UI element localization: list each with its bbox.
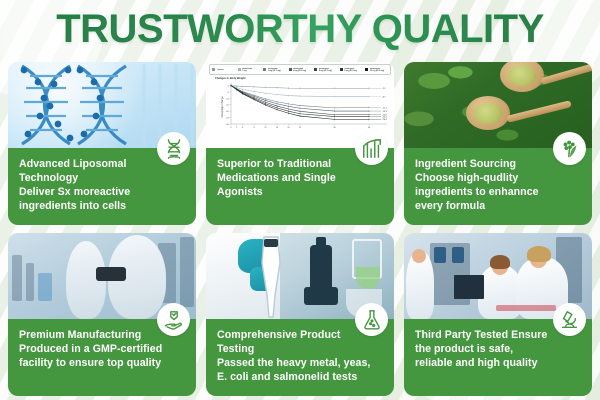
chart-legend-label: Retatrutide 4 mg (ID 2 mg) <box>268 68 281 72</box>
card-line: ingredients to enhannce <box>415 185 581 199</box>
svg-text:-20: -20 <box>226 111 230 113</box>
infographic-page: TRUSTWORTHY QUALITY <box>0 0 600 400</box>
chart-legend-item: Retatrutide 4 mg (ID 4 mg) <box>289 68 312 72</box>
svg-text:-26.4: -26.4 <box>382 119 388 121</box>
feature-card-third-party-tested[interactable]: Third Party Tested Ensure the product is… <box>404 233 592 396</box>
svg-text:-10: -10 <box>226 98 230 100</box>
chart-legend-label: Retatrutide 1 mg <box>242 68 252 72</box>
card-line: ingredients into cells <box>19 199 185 213</box>
card-line: Agonists <box>217 185 383 199</box>
chart-legend-item: Placebo <box>212 68 235 71</box>
card-line: the product is safe, <box>415 342 581 356</box>
chart-legend-label: Retatrutide 12 mg (ID 2 mg) <box>370 68 384 72</box>
chart-legend: PlaceboRetatrutide 1 mgRetatrutide 4 mg … <box>209 64 391 75</box>
svg-text:0: 0 <box>230 127 232 129</box>
svg-text:12: 12 <box>264 127 267 129</box>
feature-card-comprehensive-product-testing[interactable]: Comprehensive Product Testing Passed the… <box>206 233 394 396</box>
chart-legend-item: Retatrutide 8 mg (ID 4 mg) <box>340 68 363 72</box>
chart-legend-item: Retatrutide 1 mg <box>238 68 261 72</box>
chart-legend-swatch <box>238 68 241 71</box>
dna-icon <box>157 132 190 165</box>
svg-text:-24.2: -24.2 <box>382 116 388 118</box>
chart-plot-area: Percentage Change 0-5-10-15-20-25-300248… <box>209 80 391 134</box>
svg-text:8: 8 <box>253 127 255 129</box>
svg-text:0: 0 <box>228 85 230 87</box>
chart-legend-swatch <box>212 68 215 71</box>
svg-text:2: 2 <box>236 127 238 129</box>
growth-bar-chart-icon <box>355 132 388 165</box>
feature-card-superior-to-traditional-medications[interactable]: PlaceboRetatrutide 1 mgRetatrutide 4 mg … <box>206 62 394 225</box>
chart-legend-item: Retatrutide 4 mg (ID 2 mg) <box>263 68 286 72</box>
svg-text:-25: -25 <box>226 117 230 119</box>
chart-legend-item: Retatrutide 12 mg (ID 2 mg) <box>365 68 388 72</box>
svg-text:4: 4 <box>242 127 244 129</box>
chart-legend-label: Retatrutide 4 mg (ID 4 mg) <box>293 68 306 72</box>
svg-text:-8.7: -8.7 <box>382 96 386 98</box>
svg-text:-15: -15 <box>226 104 230 106</box>
svg-text:-5: -5 <box>227 91 230 93</box>
herb-leaf-icon <box>553 132 586 165</box>
feature-card-ingredient-sourcing[interactable]: Ingredient Sourcing Choose high-qudlity … <box>404 62 592 225</box>
card-line: Technology <box>19 171 185 185</box>
feature-card-grid: Advanced Liposomal Technology Deliver Sx… <box>8 62 592 396</box>
hand-check-quality-icon <box>157 303 190 336</box>
card-line: Choose high-qudlity <box>415 171 581 185</box>
card-line: Passed the heavy metal, yeas, <box>217 356 383 370</box>
svg-text:-30: -30 <box>226 123 230 125</box>
flask-icon <box>355 303 388 336</box>
feature-card-premium-manufacturing[interactable]: Premium Manufacturing Produced in a GMP-… <box>8 233 196 396</box>
svg-text:24: 24 <box>299 127 302 129</box>
svg-text:20: 20 <box>287 127 290 129</box>
svg-text:16: 16 <box>276 127 279 129</box>
page-title: TRUSTWORTHY QUALITY <box>0 0 600 53</box>
chart-legend-swatch <box>289 68 292 71</box>
card-line: Produced in a GMP-certified <box>19 342 185 356</box>
card-line: Testing <box>217 342 383 356</box>
chart-legend-label: Placebo <box>217 69 224 71</box>
card-line: facility to ensure top quality <box>19 356 185 370</box>
chart-legend-swatch <box>340 68 343 71</box>
svg-text:-2.1: -2.1 <box>382 88 386 90</box>
svg-text:-19.9: -19.9 <box>382 110 388 112</box>
svg-text:48: 48 <box>368 127 371 129</box>
card-line: Deliver Sx moreactive <box>19 185 185 199</box>
chart-legend-swatch <box>314 68 317 71</box>
svg-text:36: 36 <box>333 127 336 129</box>
microscope-icon <box>553 303 586 336</box>
chart-legend-label: Retatrutide 8 mg (ID 2 mg) <box>319 68 332 72</box>
card-line: every formula <box>415 199 581 213</box>
svg-text:-17.1: -17.1 <box>382 107 388 109</box>
feature-card-advanced-liposomal-technology[interactable]: Advanced Liposomal Technology Deliver Sx… <box>8 62 196 225</box>
chart-legend-item: Retatrutide 8 mg (ID 2 mg) <box>314 68 337 72</box>
card-line: reliable and high quality <box>415 356 581 370</box>
chart-legend-label: Retatrutide 8 mg (ID 4 mg) <box>344 68 357 72</box>
card-line: E. coli and salmonelid tests <box>217 370 383 384</box>
chart-legend-swatch <box>365 68 368 71</box>
card-line: Medications and Single <box>217 171 383 185</box>
chart-legend-swatch <box>263 68 266 71</box>
